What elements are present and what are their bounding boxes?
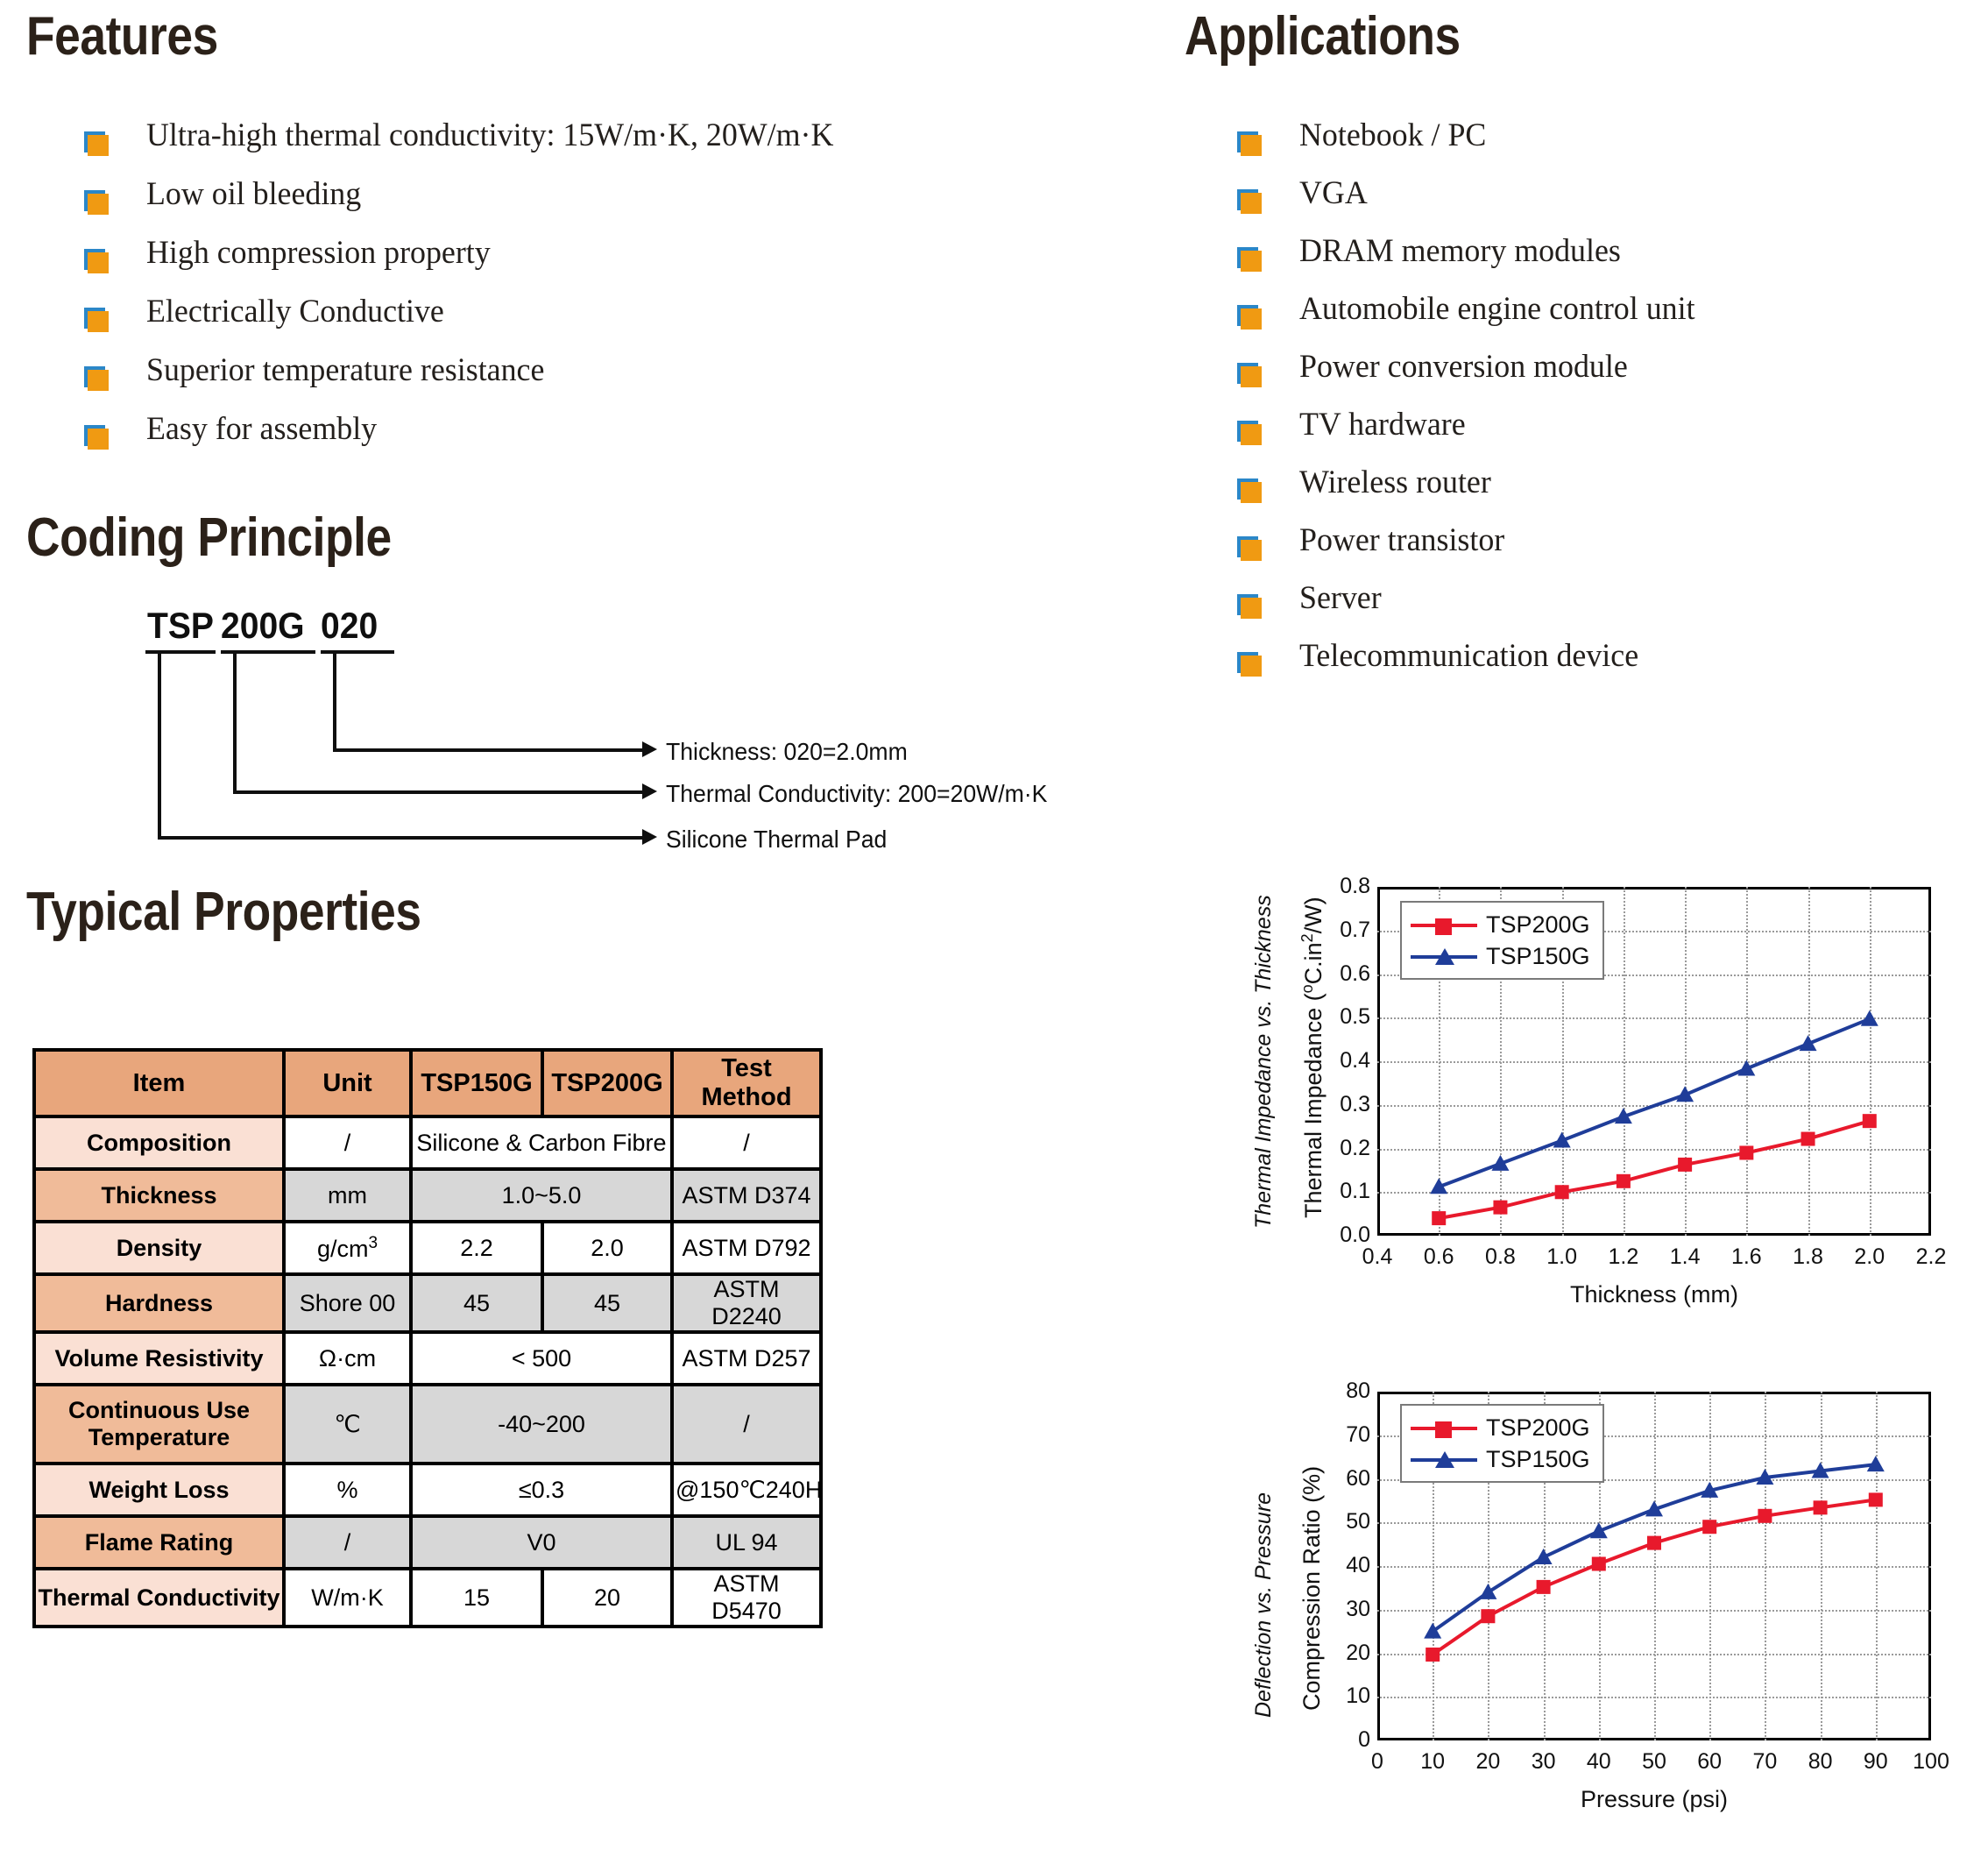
- chart-line-TSP200G: [1433, 1499, 1876, 1655]
- chart-marker-TSP200G: [1801, 1132, 1815, 1146]
- table-cell-value-merged: ≤0.3: [411, 1464, 672, 1516]
- feature-item: Superior temperature resistance: [84, 354, 855, 413]
- table-row: Thermal ConductivityW/m·K1520ASTM D5470: [34, 1569, 821, 1627]
- table-cell-unit: g/cm3: [284, 1222, 411, 1274]
- chart-marker-TSP200G: [1678, 1158, 1692, 1172]
- table-row-label: Volume Resistivity: [34, 1332, 284, 1385]
- table-cell-test-method: /: [672, 1385, 821, 1464]
- feature-item: Ultra-high thermal conductivity: 15W/m·K…: [84, 119, 855, 178]
- feature-item-label: High compression property: [146, 237, 491, 269]
- feature-item-label: Electrically Conductive: [146, 295, 444, 328]
- application-item-label: Power conversion module: [1299, 351, 1628, 383]
- application-item-label: TV hardware: [1299, 408, 1466, 441]
- application-item-label: VGA: [1299, 177, 1368, 209]
- application-item-label: Server: [1299, 582, 1382, 614]
- application-item: Wireless router: [1237, 466, 1708, 524]
- bullet-square-icon: [1237, 189, 1260, 212]
- feature-item-label: Low oil bleeding: [146, 178, 361, 210]
- chart-x-axis-label: Thickness (mm): [1377, 1281, 1931, 1308]
- chart-x-axis-label: Pressure (psi): [1377, 1786, 1931, 1813]
- bullet-square-icon: [1237, 305, 1260, 328]
- table-cell-tsp200g: 45: [542, 1274, 672, 1332]
- table-cell-unit: %: [284, 1464, 411, 1516]
- chart-legend-label: TSP150G: [1486, 943, 1590, 970]
- chart-thermal-impedance: Thermal Impedance vs. ThicknessThermal I…: [1244, 841, 1971, 1332]
- feature-item: High compression property: [84, 237, 855, 295]
- code-token-200g: 200G: [221, 605, 305, 647]
- coding-principle-diagram: TSP 200G 020 Thickness: 020=2.0mm Therma…: [0, 605, 1165, 859]
- feature-item: Low oil bleeding: [84, 178, 855, 237]
- table-row-label: Flame Rating: [34, 1516, 284, 1569]
- bullet-square-icon: [84, 190, 107, 213]
- chart-marker-TSP200G: [1617, 1174, 1631, 1188]
- code-token-020: 020: [321, 605, 378, 647]
- typical-properties-table: ItemUnitTSP150GTSP200GTest Method Compos…: [32, 1048, 823, 1628]
- chart-marker-TSP200G: [1647, 1536, 1661, 1550]
- feature-item-label: Superior temperature resistance: [146, 354, 544, 386]
- callout-silicone: Silicone Thermal Pad: [666, 826, 887, 854]
- chart-marker-TSP200G: [1555, 1185, 1569, 1199]
- application-item: TV hardware: [1237, 408, 1708, 466]
- chart-legend-item: TSP200G: [1411, 909, 1590, 940]
- application-item-label: Notebook / PC: [1299, 119, 1486, 152]
- table-cell-unit: /: [284, 1116, 411, 1169]
- chart-marker-TSP150G: [1861, 1010, 1878, 1026]
- application-item: Power transistor: [1237, 524, 1708, 582]
- application-item: Automobile engine control unit: [1237, 293, 1708, 351]
- chart-marker-TSP200G: [1592, 1557, 1606, 1571]
- application-item: VGA: [1237, 177, 1708, 235]
- table-row-label: Continuous Use Temperature: [34, 1385, 284, 1464]
- leader-conductivity-arrow: [642, 783, 657, 799]
- table-header-row: ItemUnitTSP150GTSP200GTest Method: [34, 1050, 821, 1116]
- application-item-label: Telecommunication device: [1299, 640, 1638, 672]
- table-cell-unit: ℃: [284, 1385, 411, 1464]
- table-row: Weight Loss%≤0.3@150℃240H: [34, 1464, 821, 1516]
- leader-silicone-vertical: [158, 650, 161, 840]
- table-cell-test-method: ASTM D374: [672, 1169, 821, 1222]
- table-row: Composition/Silicone & Carbon Fibre/: [34, 1116, 821, 1169]
- bullet-square-icon: [84, 425, 107, 448]
- table-cell-test-method: ASTM D5470: [672, 1569, 821, 1627]
- typical-properties-heading: Typical Properties: [26, 881, 421, 943]
- table-cell-unit: mm: [284, 1169, 411, 1222]
- table-row: Flame Rating/V0UL 94: [34, 1516, 821, 1569]
- table-row: Densityg/cm32.22.0ASTM D792: [34, 1222, 821, 1274]
- bullet-square-icon: [84, 308, 107, 330]
- legend-square-icon: [1411, 1419, 1477, 1436]
- callout-conductivity: Thermal Conductivity: 200=20W/m·K: [666, 780, 1047, 808]
- table-cell-unit: W/m·K: [284, 1569, 411, 1627]
- chart-legend-item: TSP150G: [1411, 940, 1590, 972]
- leader-silicone-horizontal: [158, 836, 644, 840]
- feature-item-label: Ultra-high thermal conductivity: 15W/m·K…: [146, 119, 833, 152]
- bullet-square-icon: [84, 131, 107, 154]
- bullet-square-icon: [1237, 536, 1260, 559]
- datasheet-page: Features Ultra-high thermal conductivity…: [0, 0, 1988, 1857]
- chart-marker-TSP200G: [1426, 1648, 1440, 1662]
- leader-conductivity-vertical: [233, 650, 237, 794]
- bullet-square-icon: [84, 249, 107, 272]
- bullet-square-icon: [84, 366, 107, 389]
- legend-triangle-icon: [1411, 1450, 1477, 1468]
- chart-marker-TSP200G: [1758, 1509, 1772, 1523]
- table-cell-test-method: ASTM D792: [672, 1222, 821, 1274]
- application-item: Server: [1237, 582, 1708, 640]
- chart-legend-label: TSP150G: [1486, 1446, 1590, 1473]
- bullet-square-icon: [1237, 131, 1260, 154]
- code-token-tsp: TSP: [147, 605, 214, 647]
- chart-legend-label: TSP200G: [1486, 1414, 1590, 1442]
- bullet-square-icon: [1237, 594, 1260, 617]
- chart-marker-TSP200G: [1814, 1500, 1828, 1514]
- chart-series-layer: [1244, 1350, 1971, 1853]
- application-item: DRAM memory modules: [1237, 235, 1708, 293]
- application-item-label: Power transistor: [1299, 524, 1504, 556]
- table-row-label: Density: [34, 1222, 284, 1274]
- chart-legend: TSP200GTSP150G: [1400, 1404, 1604, 1483]
- table-cell-tsp150g: 45: [411, 1274, 542, 1332]
- table-row: Thicknessmm1.0~5.0ASTM D374: [34, 1169, 821, 1222]
- feature-item: Easy for assembly: [84, 413, 855, 471]
- chart-legend-item: TSP200G: [1411, 1412, 1590, 1443]
- table-cell-unit: /: [284, 1516, 411, 1569]
- table-row: Continuous Use Temperature℃-40~200/: [34, 1385, 821, 1464]
- bullet-square-icon: [1237, 421, 1260, 443]
- bullet-square-icon: [1237, 478, 1260, 501]
- table-cell-value-merged: V0: [411, 1516, 672, 1569]
- applications-heading: Applications: [1185, 5, 1461, 67]
- chart-marker-TSP150G: [1535, 1549, 1553, 1564]
- chart-marker-TSP200G: [1869, 1492, 1883, 1506]
- leader-thickness-arrow: [642, 741, 657, 757]
- table-row-label: Weight Loss: [34, 1464, 284, 1516]
- chart-marker-TSP150G: [1479, 1584, 1496, 1599]
- table-row-label: Thickness: [34, 1169, 284, 1222]
- table-cell-tsp200g: 2.0: [542, 1222, 672, 1274]
- chart-series-layer: [1244, 841, 1971, 1332]
- table-cell-tsp200g: 20: [542, 1569, 672, 1627]
- application-item-label: Wireless router: [1299, 466, 1491, 499]
- chart-deflection-pressure: Deflection vs. PressureCompression Ratio…: [1244, 1350, 1971, 1853]
- chart-marker-TSP200G: [1481, 1609, 1495, 1623]
- application-item-label: DRAM memory modules: [1299, 235, 1621, 267]
- chart-marker-TSP200G: [1702, 1520, 1716, 1534]
- chart-marker-TSP200G: [1493, 1201, 1507, 1215]
- table-row-label: Hardness: [34, 1274, 284, 1332]
- chart-legend: TSP200GTSP150G: [1400, 901, 1604, 980]
- underline-tsp: [145, 650, 216, 654]
- table-cell-test-method: ASTM D2240: [672, 1274, 821, 1332]
- callout-thickness: Thickness: 020=2.0mm: [666, 738, 908, 766]
- application-item: Telecommunication device: [1237, 640, 1708, 698]
- chart-marker-TSP200G: [1432, 1211, 1446, 1225]
- application-item: Notebook / PC: [1237, 119, 1708, 177]
- features-list: Ultra-high thermal conductivity: 15W/m·K…: [84, 119, 855, 471]
- table-cell-value-merged: < 500: [411, 1332, 672, 1385]
- table-col-header: Test Method: [672, 1050, 821, 1116]
- table-cell-unit: Shore 00: [284, 1274, 411, 1332]
- legend-square-icon: [1411, 916, 1477, 933]
- table-cell-test-method: @150℃240H: [672, 1464, 821, 1516]
- bullet-square-icon: [1237, 247, 1260, 270]
- table-row-label: Thermal Conductivity: [34, 1569, 284, 1627]
- table-cell-value-merged: -40~200: [411, 1385, 672, 1464]
- table-cell-tsp150g: 2.2: [411, 1222, 542, 1274]
- bullet-square-icon: [1237, 363, 1260, 386]
- bullet-square-icon: [1237, 652, 1260, 675]
- chart-marker-TSP200G: [1537, 1580, 1551, 1594]
- coding-principle-heading: Coding Principle: [26, 507, 392, 569]
- application-item: Power conversion module: [1237, 351, 1708, 408]
- table-cell-tsp150g: 15: [411, 1569, 542, 1627]
- table-cell-test-method: UL 94: [672, 1516, 821, 1569]
- table-cell-test-method: /: [672, 1116, 821, 1169]
- table-cell-value-merged: 1.0~5.0: [411, 1169, 672, 1222]
- feature-item: Electrically Conductive: [84, 295, 855, 354]
- table-row: HardnessShore 004545ASTM D2240: [34, 1274, 821, 1332]
- chart-legend-item: TSP150G: [1411, 1443, 1590, 1475]
- table-row-label: Composition: [34, 1116, 284, 1169]
- features-heading: Features: [26, 5, 218, 67]
- leader-silicone-arrow: [642, 829, 657, 845]
- table-row: Volume ResistivityΩ·cm< 500ASTM D257: [34, 1332, 821, 1385]
- legend-triangle-icon: [1411, 947, 1477, 965]
- feature-item-label: Easy for assembly: [146, 413, 377, 445]
- table-col-header: Item: [34, 1050, 284, 1116]
- leader-thickness-horizontal: [333, 748, 644, 752]
- chart-marker-TSP200G: [1863, 1114, 1877, 1128]
- table-col-header: TSP150G: [411, 1050, 542, 1116]
- table-cell-test-method: ASTM D257: [672, 1332, 821, 1385]
- unit-superscript: 3: [368, 1234, 378, 1252]
- table-cell-unit: Ω·cm: [284, 1332, 411, 1385]
- chart-marker-TSP200G: [1739, 1145, 1753, 1159]
- applications-list: Notebook / PCVGADRAM memory modulesAutom…: [1237, 119, 1708, 698]
- table-col-header: Unit: [284, 1050, 411, 1116]
- application-item-label: Automobile engine control unit: [1299, 293, 1695, 325]
- underline-020: [321, 650, 394, 654]
- leader-conductivity-horizontal: [233, 790, 644, 794]
- table-col-header: TSP200G: [542, 1050, 672, 1116]
- table-cell-value-merged: Silicone & Carbon Fibre: [411, 1116, 672, 1169]
- chart-legend-label: TSP200G: [1486, 911, 1590, 939]
- leader-thickness-vertical: [333, 650, 336, 752]
